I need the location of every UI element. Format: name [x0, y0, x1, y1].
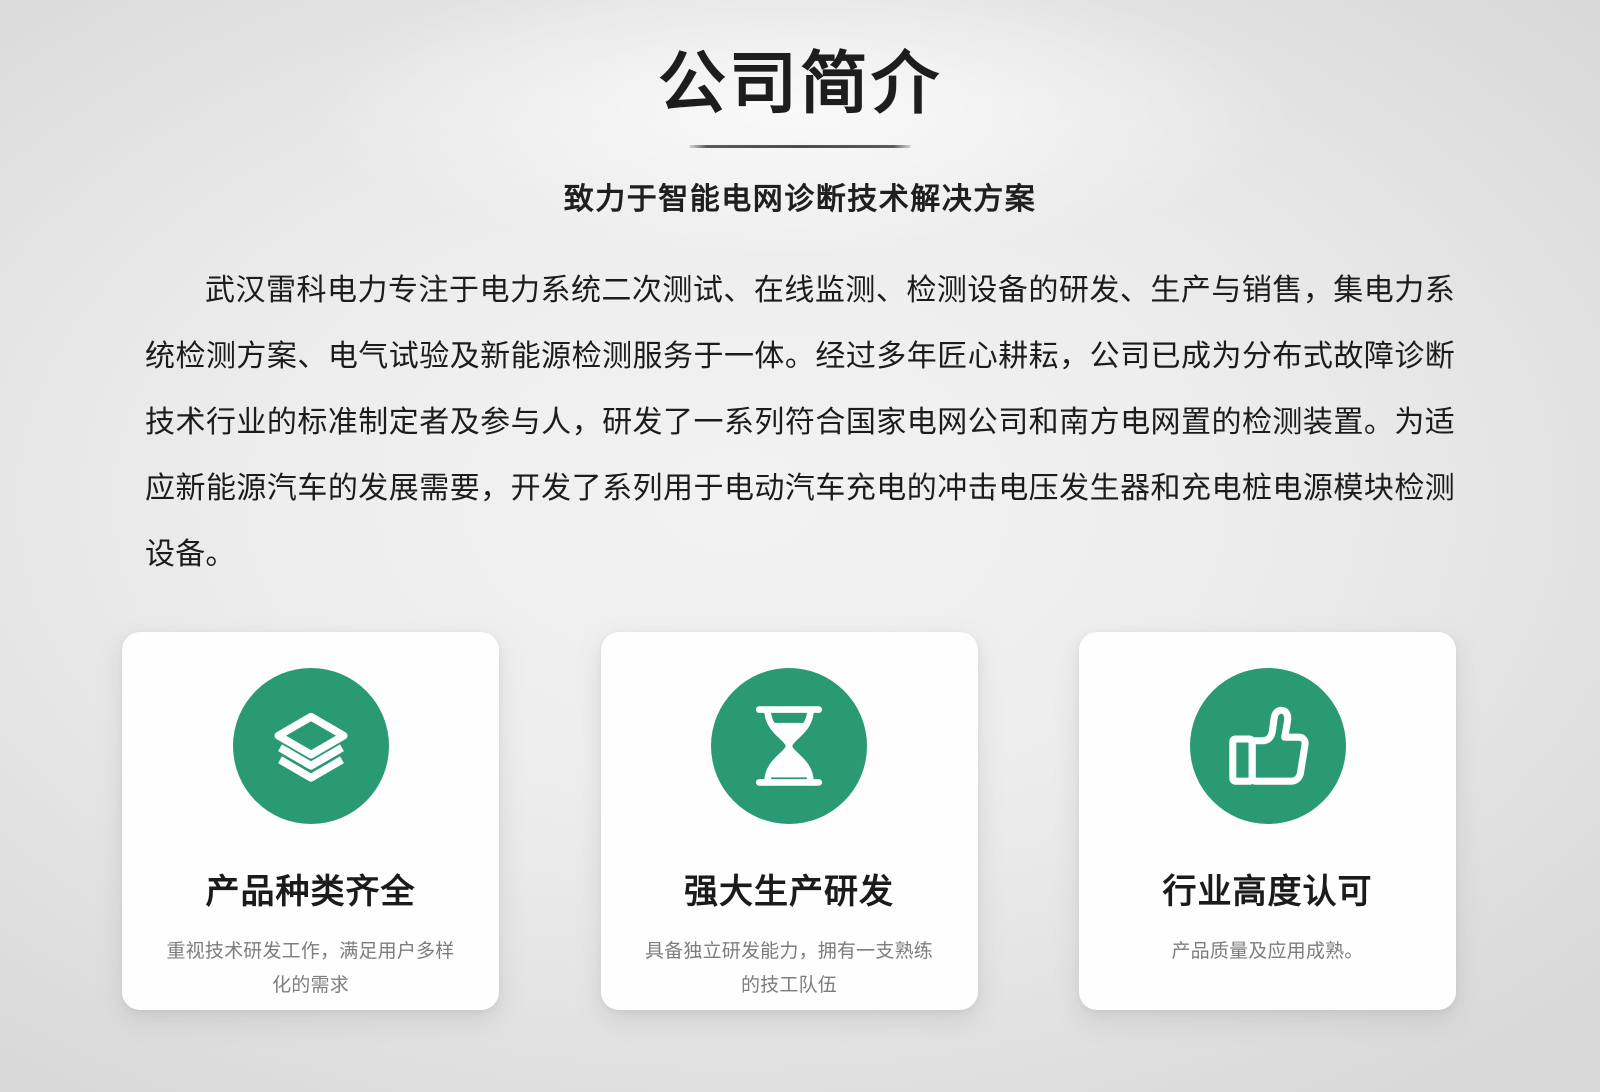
title-divider [689, 145, 911, 148]
layers-icon [268, 703, 354, 789]
feature-card-description: 具备独立研发能力，拥有一支熟练的技工队伍 [639, 935, 939, 1003]
intro-section: 武汉雷科电力专注于电力系统二次测试、在线监测、检测设备的研发、生产与销售，集电力… [145, 258, 1455, 588]
hourglass-icon [747, 703, 831, 789]
feature-card-product-range[interactable]: 产品种类齐全 重视技术研发工作，满足用户多样化的需求 [122, 632, 499, 1010]
page-header: 公司简介 致力于智能电网诊断技术解决方案 [0, 0, 1600, 218]
icon-badge [1190, 668, 1346, 824]
icon-badge [711, 668, 867, 824]
icon-badge [233, 668, 389, 824]
feature-card-title: 强大生产研发 [684, 864, 894, 913]
thumbs-up-icon [1224, 702, 1312, 790]
company-profile-page: 公司简介 致力于智能电网诊断技术解决方案 武汉雷科电力专注于电力系统二次测试、在… [0, 0, 1600, 1092]
feature-card-description: 重视技术研发工作，满足用户多样化的需求 [161, 935, 461, 1003]
feature-cards: 产品种类齐全 重视技术研发工作，满足用户多样化的需求 [122, 632, 1456, 1010]
feature-card-title: 行业高度认可 [1163, 864, 1373, 913]
feature-card-rnd-capability[interactable]: 强大生产研发 具备独立研发能力，拥有一支熟练的技工队伍 [601, 632, 978, 1010]
page-subtitle: 致力于智能电网诊断技术解决方案 [0, 174, 1600, 218]
page-title: 公司简介 [0, 42, 1600, 127]
company-intro-paragraph: 武汉雷科电力专注于电力系统二次测试、在线监测、检测设备的研发、生产与销售，集电力… [145, 258, 1455, 588]
feature-card-industry-recognition[interactable]: 行业高度认可 产品质量及应用成熟。 [1079, 632, 1456, 1010]
feature-card-title: 产品种类齐全 [206, 864, 416, 913]
feature-card-description: 产品质量及应用成熟。 [1118, 935, 1418, 969]
